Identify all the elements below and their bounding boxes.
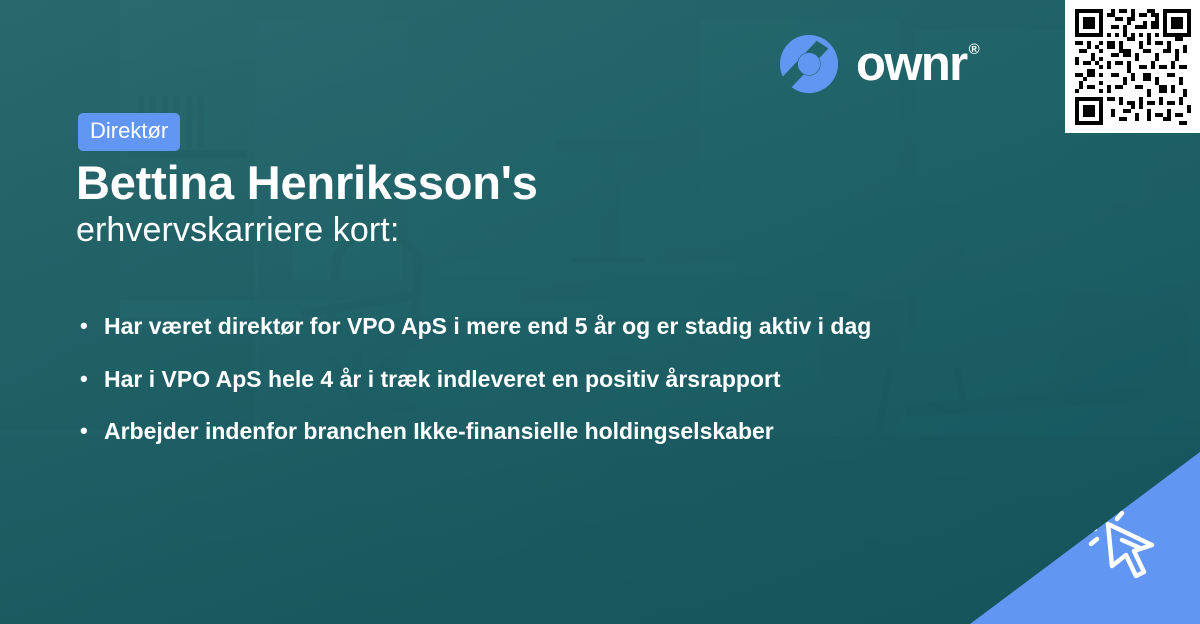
ownr-wordmark: ownr ®: [856, 40, 978, 89]
list-item: Arbejder indenfor branchen Ikke-finansie…: [76, 415, 936, 448]
registered-trademark-mark: ®: [969, 42, 978, 57]
page-title: Bettina Henriksson's: [76, 157, 538, 210]
role-badge: Direktør: [78, 113, 180, 151]
ownr-circle-swoosh-icon: [778, 33, 840, 95]
career-highlights-list: Har været direktør for VPO ApS i mere en…: [76, 310, 936, 468]
ownr-logo[interactable]: ownr ®: [778, 33, 978, 95]
business-card-banner: ownr ® Direktør Bettina Henriksson's erh…: [0, 0, 1200, 624]
list-item: Har i VPO ApS hele 4 år i træk indlevere…: [76, 363, 936, 396]
ownr-wordmark-text: ownr: [856, 40, 967, 89]
qr-code-panel[interactable]: [1065, 0, 1200, 133]
list-item: Har været direktør for VPO ApS i mere en…: [76, 310, 936, 343]
qr-code-icon[interactable]: [1075, 9, 1191, 125]
page-subtitle: erhvervskarriere kort:: [76, 210, 399, 251]
